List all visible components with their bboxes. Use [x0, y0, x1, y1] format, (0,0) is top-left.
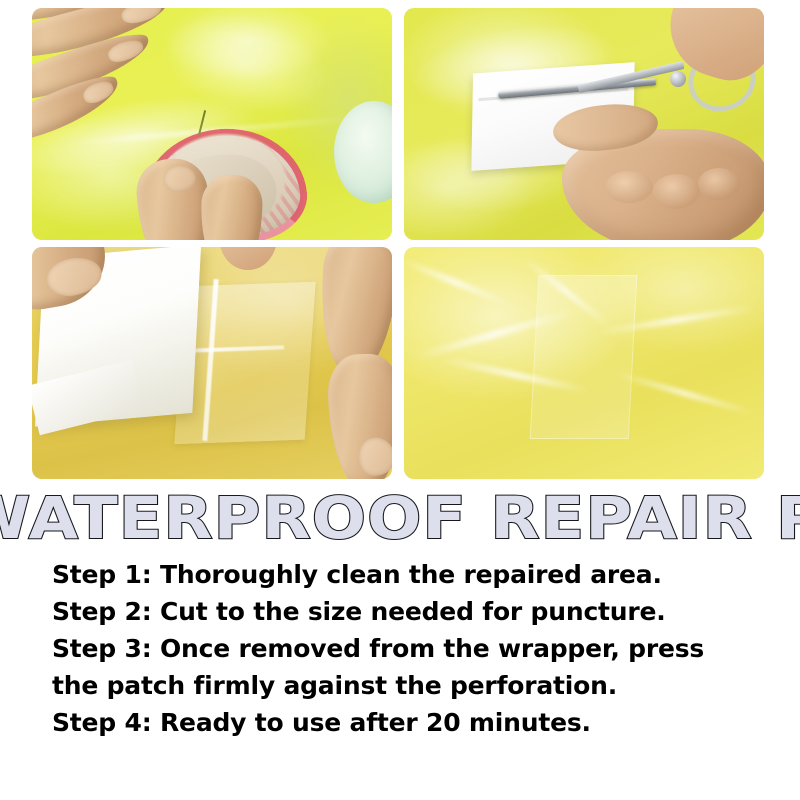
hand-icon [126, 148, 263, 240]
photo-clean-area [32, 8, 392, 240]
fingernail-shape [44, 254, 105, 300]
page-title: WATERPROOF REPAIR PATCH [0, 487, 800, 549]
scissors-pivot [670, 71, 686, 87]
finger-shape [32, 247, 113, 317]
steps-list: Step 1: Thoroughly clean the repaired ar… [52, 556, 752, 741]
applied-patch [529, 275, 637, 439]
finger-shape [200, 175, 263, 240]
fingernail-shape [163, 164, 196, 193]
step-item: Step 4: Ready to use after 20 minutes. [52, 704, 752, 741]
photo-cut-patch [404, 8, 764, 240]
surface-wrinkle [404, 258, 509, 307]
background-object [334, 101, 392, 203]
knuckle-shape [605, 171, 653, 204]
fingernail-shape [359, 436, 392, 475]
hand-icon [313, 247, 392, 474]
fingernail-shape [105, 36, 146, 65]
step-item: Step 1: Thoroughly clean the repaired ar… [52, 556, 752, 593]
fingernail-shape [119, 8, 163, 26]
step-item: Step 3: Once removed from the wrapper, p… [52, 630, 752, 704]
photo-apply-patch [32, 247, 392, 479]
step-item: Step 2: Cut to the size needed for punct… [52, 593, 752, 630]
finger-shape [327, 352, 392, 479]
infographic-page: WATERPROOF REPAIR PATCH Step 1: Thorough… [0, 0, 800, 800]
photo-finished-result [404, 247, 764, 479]
surface-wrinkle [615, 371, 755, 415]
fingernail-shape [80, 78, 115, 106]
knuckle-shape [653, 174, 701, 210]
photo-grid [32, 8, 760, 480]
hand-icon [548, 105, 764, 240]
